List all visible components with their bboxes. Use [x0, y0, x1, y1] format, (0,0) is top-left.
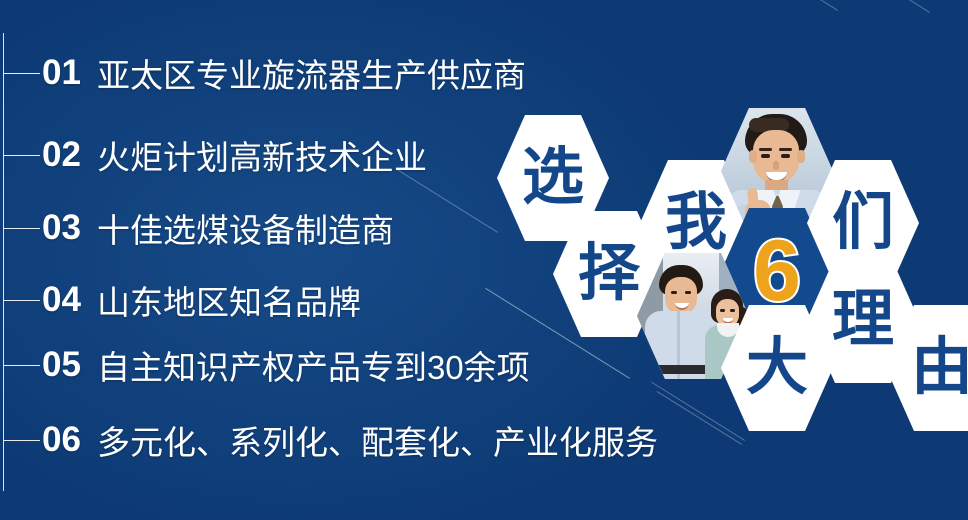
diagonal-line-4	[802, 0, 930, 13]
list-item-label: 多元化、系列化、配套化、产业化服务	[97, 416, 658, 464]
hex-glyph: 我	[665, 192, 727, 254]
diagonal-line-9	[657, 391, 742, 445]
list-item-number: 04	[42, 280, 81, 320]
list-item: 06 多元化、系列化、配套化、产业化服务	[0, 412, 658, 468]
list-item-tick	[3, 300, 40, 301]
eye-right	[781, 154, 790, 158]
list-item-label: 自主知识产权产品专到30余项	[97, 341, 530, 389]
list-item-label: 火炬计划高新技术企业	[97, 131, 427, 179]
man-eye-left	[671, 291, 677, 294]
list-item: 05 自主知识产权产品专到30余项	[0, 337, 530, 393]
list-item-number: 06	[42, 420, 81, 460]
hex-glyph: 择	[578, 243, 640, 305]
woman-eye-right	[730, 309, 735, 312]
list-item-number: 02	[42, 135, 81, 175]
list-item: 01 亚太区专业旋流器生产供应商	[0, 45, 526, 101]
woman-eye-left	[720, 309, 725, 312]
diagonal-line-3	[736, 0, 838, 11]
hex-glyph-count: 6	[753, 228, 801, 314]
ear-right	[797, 150, 805, 163]
man-eye-right	[685, 291, 691, 294]
list-item-label: 亚太区专业旋流器生产供应商	[97, 49, 526, 97]
hex-glyph: 们	[832, 192, 894, 254]
hex-glyph: 由	[911, 337, 968, 399]
nose	[773, 161, 779, 170]
list-item-tick	[3, 155, 40, 156]
list-item: 04 山东地区知名品牌	[0, 272, 361, 328]
hex-glyph: 选	[522, 147, 584, 209]
diagonal-line-8	[651, 382, 745, 441]
thumb	[747, 188, 759, 209]
eye-left	[761, 154, 770, 158]
list-item-number: 01	[42, 53, 81, 93]
list-item-tick	[3, 228, 40, 229]
list-item: 02 火炬计划高新技术企业	[0, 127, 427, 183]
eyebrow-right	[779, 148, 792, 151]
list-item: 03 十佳选煤设备制造商	[0, 200, 394, 256]
list-item-tick	[3, 365, 40, 366]
list-item-tick	[3, 440, 40, 441]
hex-glyph: 理	[832, 289, 894, 351]
list-item-label: 十佳选煤设备制造商	[97, 204, 394, 252]
eyebrow-left	[759, 148, 772, 151]
hex-glyph: 大	[746, 337, 808, 399]
list-item-number: 03	[42, 208, 81, 248]
list-item-tick	[3, 73, 40, 74]
feature-list: 01 亚太区专业旋流器生产供应商 02 火炬计划高新技术企业 03 十佳选煤设备…	[0, 0, 640, 520]
poster-canvas: 01 亚太区专业旋流器生产供应商 02 火炬计划高新技术企业 03 十佳选煤设备…	[0, 0, 968, 520]
ear-left	[749, 150, 757, 163]
list-item-number: 05	[42, 345, 81, 385]
man-belt	[651, 365, 709, 374]
list-item-label: 山东地区知名品牌	[97, 276, 361, 324]
